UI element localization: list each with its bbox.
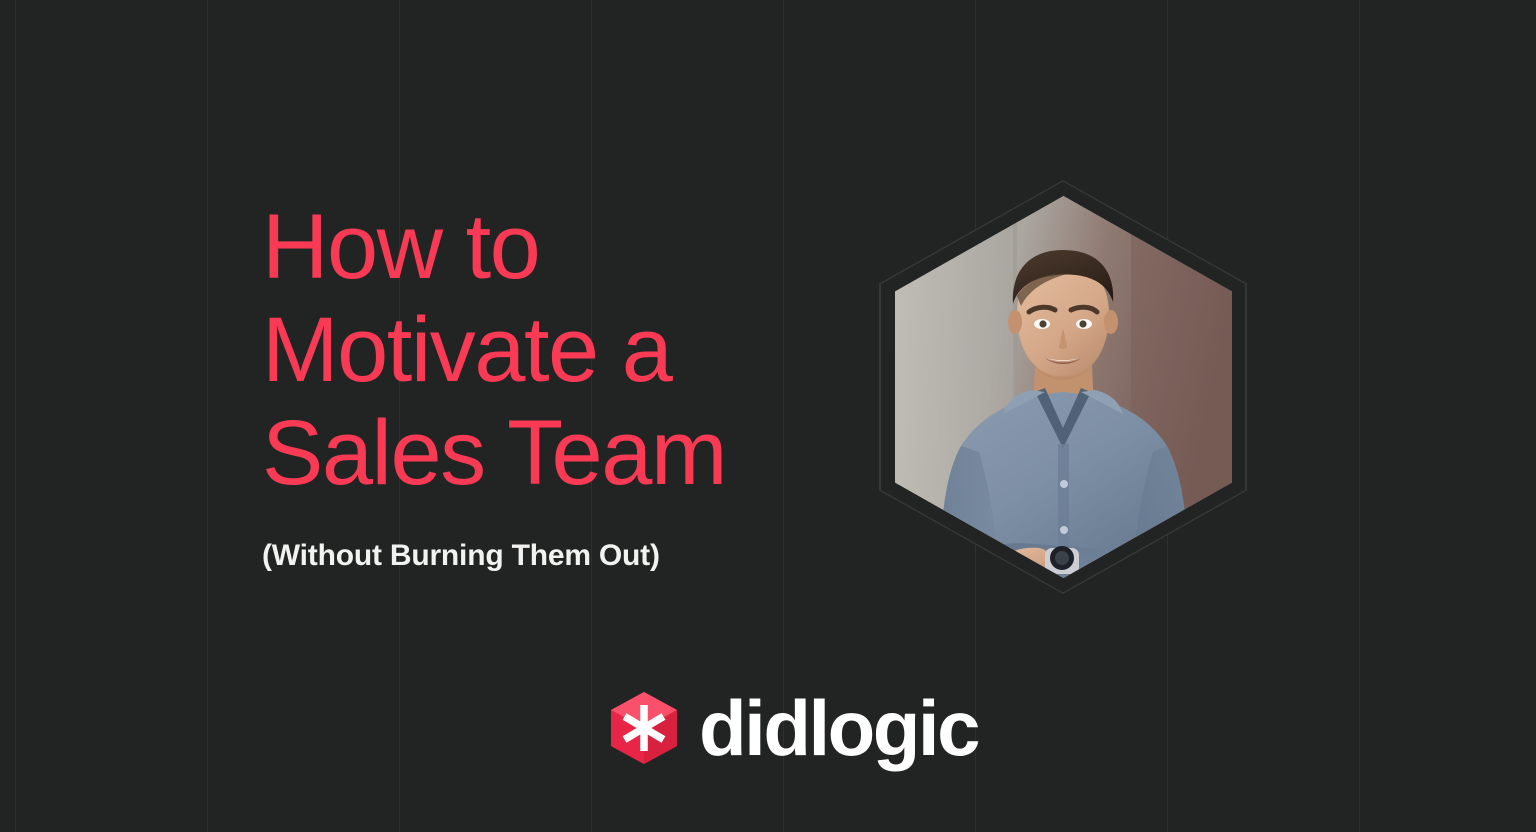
brand-wordmark: didlogic [699,692,978,764]
hexagon-asterisk-icon [611,692,677,764]
headline-block: How to Motivate a Sales Team (Without Bu… [262,196,726,575]
grid-line [207,0,208,832]
portrait-hexagon [879,180,1247,594]
grid-line [15,0,16,832]
brand-lockup: didlogic [611,692,978,764]
headline-line-1: How to [262,196,726,299]
headline-line-2: Motivate a [262,299,726,402]
headline-line-3: Sales Team [262,402,726,505]
subtitle: (Without Burning Them Out) [262,505,726,575]
promo-banner: How to Motivate a Sales Team (Without Bu… [0,0,1536,832]
grid-line [1359,0,1360,832]
